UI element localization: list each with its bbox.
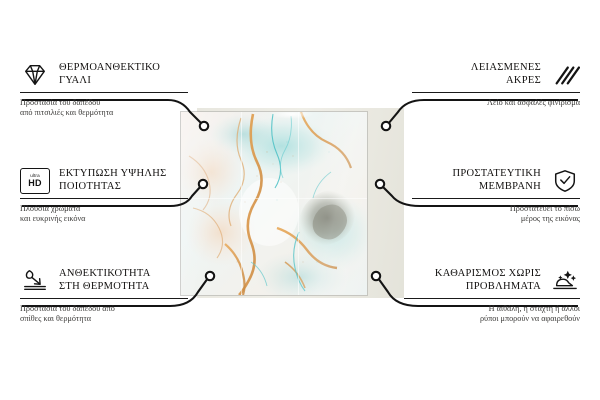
flame-heat-resistance-icon [20,268,50,294]
feature-title: ΠΡΟΣΤΑΤΕΥΤΙΚΗ ΜΕΜΒΡΑΝΗ [452,168,541,193]
ultra-hd-icon: ultra HD [20,168,50,194]
feature-description: Προστασία του δαπέδου από πιτσιλιές και … [20,98,188,119]
feature-description: Προστατεύει το πίσω μέρος της εικόνας [412,204,580,225]
feature-polished-edges: ΛΕΙΑΣΜΕΝΕΣ ΑΚΡΕΣ Λείο και ασφαλές φινίρι… [412,62,580,108]
connector-dot-right-3 [372,272,380,280]
feature-description: Η αιθάλη, η στάχτη ή άλλοι ρύποι μπορούν… [404,304,580,325]
feature-description: Πλούσια χρώματα και ευκρινής εικόνα [20,204,188,225]
infographic-canvas: ΘΕΡΜΟΑΝΘΕΚΤΙΚΟ ΓΥΑΛΙ Προστασία του δαπέδ… [0,0,600,400]
feature-heat-durability: ΑΝΘΕΚΤΙΚΟΤΗΤΑ ΣΤΗ ΘΕΡΜΟΤΗΤΑ Προστασία το… [20,268,188,325]
feature-title: ΛΕΙΑΣΜΕΝΕΣ ΑΚΡΕΣ [471,62,541,87]
divider [412,198,580,199]
divider [20,298,188,299]
hd-label: HD [28,179,41,189]
connector-dot-right-1 [382,122,390,130]
connector-dot-left-2 [199,180,207,188]
sparkle-clean-icon [550,268,580,294]
diamond-icon [20,62,50,88]
feature-header: ultra HD ΕΚΤΥΠΩΣΗ ΥΨΗΛΗΣ ΠΟΙΟΤΗΤΑΣ [20,168,188,194]
feature-heat-resistant-glass: ΘΕΡΜΟΑΝΘΕΚΤΙΚΟ ΓΥΑΛΙ Προστασία του δαπέδ… [20,62,188,119]
shield-check-icon [550,168,580,194]
feature-header: ΚΑΘΑΡΙΣΜΟΣ ΧΩΡΙΣ ΠΡΟΒΛΗΜΑΤΑ [404,268,580,294]
feature-header: ΑΝΘΕΚΤΙΚΟΤΗΤΑ ΣΤΗ ΘΕΡΜΟΤΗΤΑ [20,268,188,294]
feature-description: Προστασία του δαπέδου από σπίθες και θερ… [20,304,188,325]
divider [20,198,188,199]
feature-high-quality-print: ultra HD ΕΚΤΥΠΩΣΗ ΥΨΗΛΗΣ ΠΟΙΟΤΗΤΑΣ Πλούσ… [20,168,188,225]
connector-dot-left-3 [206,272,214,280]
feature-title: ΚΑΘΑΡΙΣΜΟΣ ΧΩΡΙΣ ΠΡΟΒΛΗΜΑΤΑ [435,268,541,293]
connector-dot-right-2 [376,180,384,188]
feature-easy-cleaning: ΚΑΘΑΡΙΣΜΟΣ ΧΩΡΙΣ ΠΡΟΒΛΗΜΑΤΑ Η αιθάλη, η … [404,268,580,325]
feature-protective-membrane: ΠΡΟΣΤΑΤΕΥΤΙΚΗ ΜΕΜΒΡΑΝΗ Προστατεύει το πί… [412,168,580,225]
polished-edges-icon [550,62,580,88]
feature-title: ΑΝΘΕΚΤΙΚΟΤΗΤΑ ΣΤΗ ΘΕΡΜΟΤΗΤΑ [59,268,151,293]
feature-title: ΘΕΡΜΟΑΝΘΕΚΤΙΚΟ ΓΥΑΛΙ [59,62,160,87]
feature-description: Λείο και ασφαλές φινίρισμα [412,98,580,108]
feature-header: ΛΕΙΑΣΜΕΝΕΣ ΑΚΡΕΣ [412,62,580,88]
feature-header: ΘΕΡΜΟΑΝΘΕΚΤΙΚΟ ΓΥΑΛΙ [20,62,188,88]
connector-dot-left-1 [200,122,208,130]
divider [404,298,580,299]
divider [412,92,580,93]
divider [20,92,188,93]
feature-title: ΕΚΤΥΠΩΣΗ ΥΨΗΛΗΣ ΠΟΙΟΤΗΤΑΣ [59,168,167,193]
feature-header: ΠΡΟΣΤΑΤΕΥΤΙΚΗ ΜΕΜΒΡΑΝΗ [412,168,580,194]
